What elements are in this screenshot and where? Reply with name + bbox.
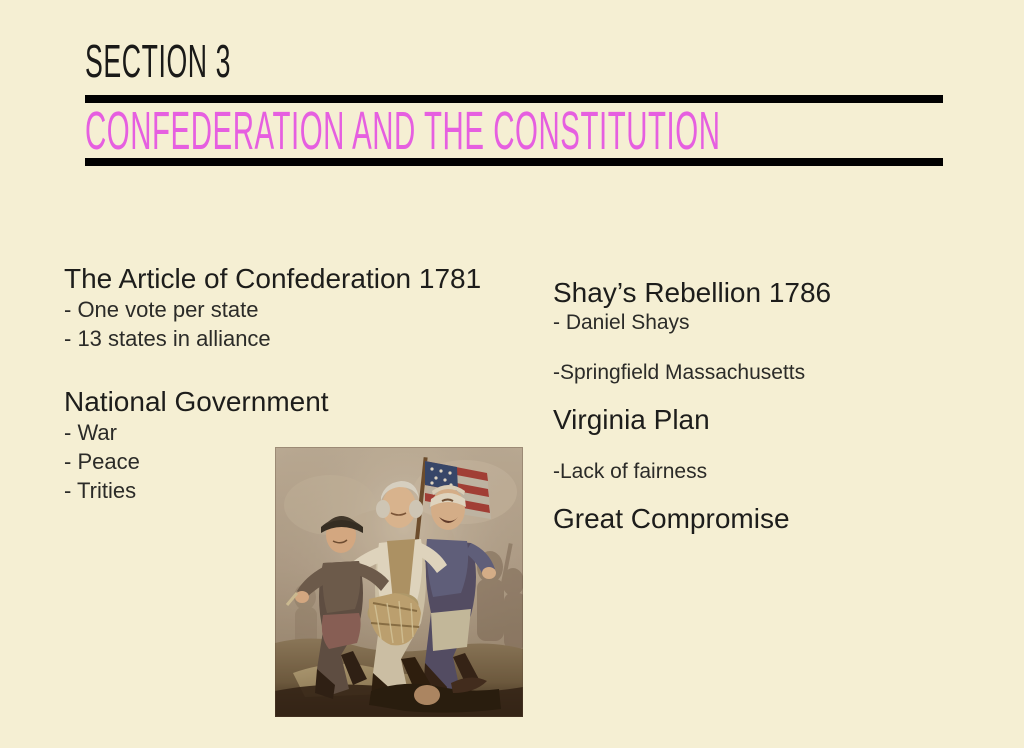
group-heading: Great Compromise bbox=[553, 502, 993, 535]
list-item: - Daniel Shays bbox=[553, 309, 993, 337]
list-item: - War bbox=[64, 418, 534, 447]
header-rule-top bbox=[85, 95, 943, 103]
group-heading: Shay’s Rebellion 1786 bbox=[553, 276, 993, 309]
right-content-column: Shay’s Rebellion 1786 - Daniel Shays -Sp… bbox=[553, 276, 993, 535]
group-heading: National Government bbox=[64, 385, 534, 418]
item-spacer bbox=[553, 436, 993, 458]
slide-canvas: Section 3 Confederation and the Constitu… bbox=[0, 0, 1024, 748]
group-heading: Virginia Plan bbox=[553, 403, 993, 436]
content-group: Virginia Plan -Lack of fairness bbox=[553, 403, 993, 486]
group-spacer bbox=[553, 486, 993, 502]
group-spacer bbox=[64, 353, 534, 385]
group-heading: The Article of Confederation 1781 bbox=[64, 262, 534, 295]
page-title: Confederation and the Constitution bbox=[85, 103, 721, 158]
list-item: - One vote per state bbox=[64, 295, 534, 324]
content-group: Shay’s Rebellion 1786 - Daniel Shays -Sp… bbox=[553, 276, 993, 387]
group-spacer bbox=[553, 387, 993, 403]
title-band: Confederation and the Constitution bbox=[85, 103, 943, 158]
section-kicker: Section 3 bbox=[85, 36, 583, 86]
list-item: -Lack of fairness bbox=[553, 458, 993, 486]
list-item: -Springfield Massachusetts bbox=[553, 359, 993, 387]
slide-header: Section 3 Confederation and the Constitu… bbox=[85, 36, 943, 166]
content-group: Great Compromise bbox=[553, 502, 993, 535]
spirit-of-76-painting bbox=[275, 447, 523, 717]
list-item: - 13 states in alliance bbox=[64, 324, 534, 353]
content-group: The Article of Confederation 1781 - One … bbox=[64, 262, 534, 353]
header-rule-bottom bbox=[85, 158, 943, 166]
item-spacer bbox=[553, 337, 993, 359]
